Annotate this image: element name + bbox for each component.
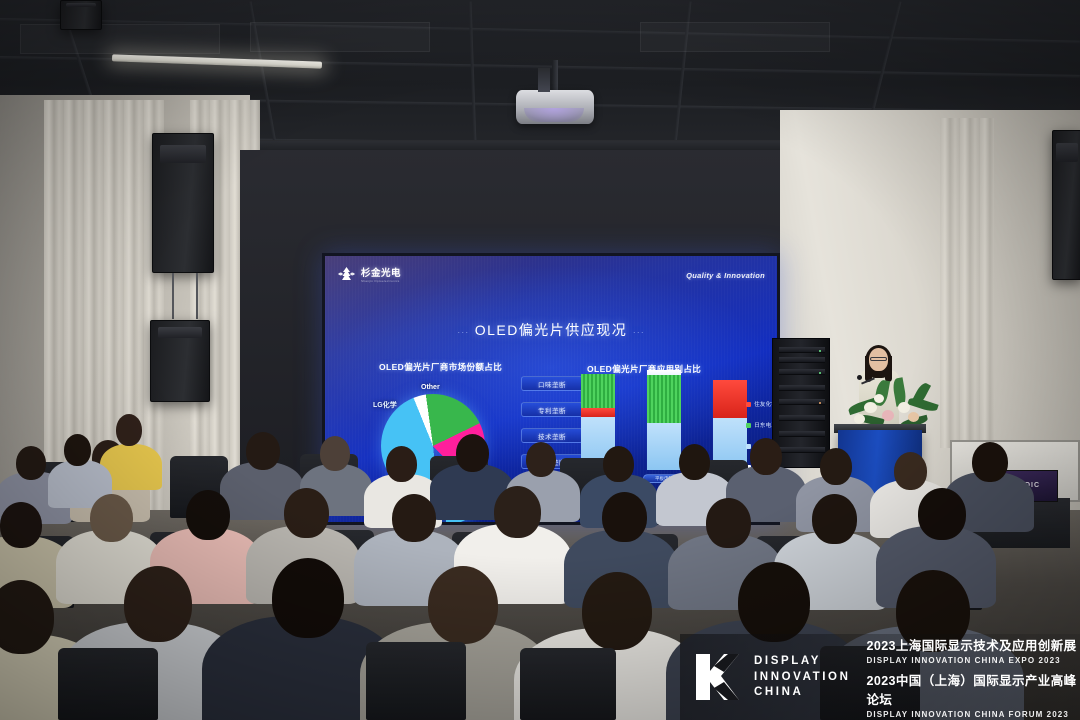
back-left-speaker	[60, 0, 102, 30]
glasses-icon	[870, 357, 887, 361]
dic-word-china: CHINA	[754, 686, 851, 699]
slide-brand: 杉金光电 Shanjin Optoelectronics	[337, 265, 401, 283]
brand-name: 杉金光电	[361, 265, 401, 279]
slide-tagline: Quality & Innovation	[686, 271, 765, 280]
slide-title: OLED偏光片供应现况	[475, 322, 628, 338]
event-banner: DISPLAY INNOVATION CHINA 2023上海国际显示技术及应用…	[680, 634, 1080, 720]
left-upper-speaker	[152, 133, 214, 273]
event-title-forum-cn: 2023中国（上海）国际显示产业高峰论坛	[867, 670, 1080, 708]
event-title-expo-cn: 2023上海国际显示技术及应用创新展	[867, 635, 1080, 654]
conference-photo-scene: 杉金光电 Shanjin Optoelectronics Quality & I…	[0, 0, 1080, 720]
title-deco-right: ···	[633, 327, 645, 337]
projector-mount	[552, 60, 558, 94]
dic-brand-words: DISPLAY INNOVATION CHINA	[754, 655, 851, 700]
dic-word-display: DISPLAY	[754, 655, 851, 668]
event-title-expo-en: DISPLAY INNOVATION CHINA EXPO 2023	[867, 656, 1080, 665]
event-titles: 2023上海国际显示技术及应用创新展 DISPLAY INNOVATION CH…	[867, 635, 1080, 719]
slide-title-row: ··· OLED偏光片供应现况 ···	[325, 320, 777, 340]
shanjin-logo-icon	[337, 266, 356, 283]
brand-subtitle: Shanjin Optoelectronics	[361, 279, 401, 283]
dic-k-logo-icon	[694, 652, 740, 702]
event-title-forum-en: DISPLAY INNOVATION CHINA FORUM 2023	[867, 710, 1080, 719]
chip-item: 口味垄断	[521, 376, 583, 391]
right-speaker	[1052, 130, 1080, 280]
pie-chart-title: OLED偏光片厂商市场份额占比	[379, 361, 502, 373]
ceiling-projector-icon	[516, 90, 594, 124]
title-deco-left: ···	[457, 327, 469, 337]
dic-word-innovation: INNOVATION	[754, 671, 851, 684]
